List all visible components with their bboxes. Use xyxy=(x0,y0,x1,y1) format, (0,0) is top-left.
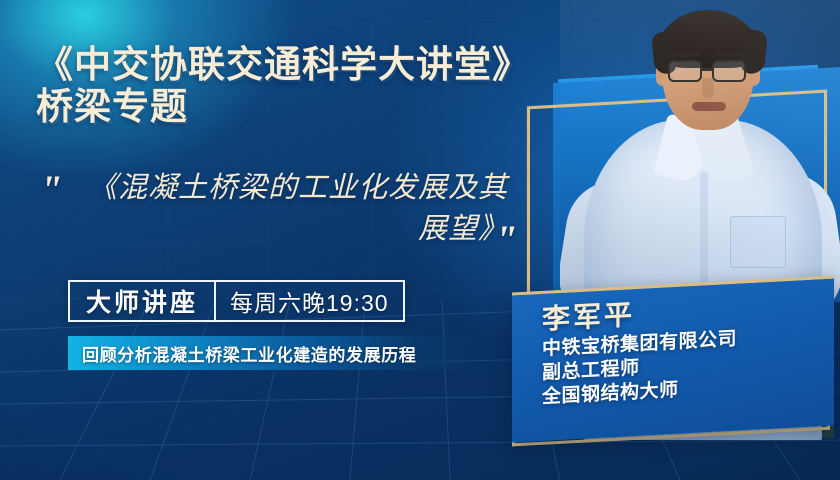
promo-poster: 《中交协联交通科学大讲堂》 桥梁专题 " 《混凝土桥梁的工业化发展及其展望》 "… xyxy=(0,0,840,480)
vignette-overlay xyxy=(0,0,840,480)
